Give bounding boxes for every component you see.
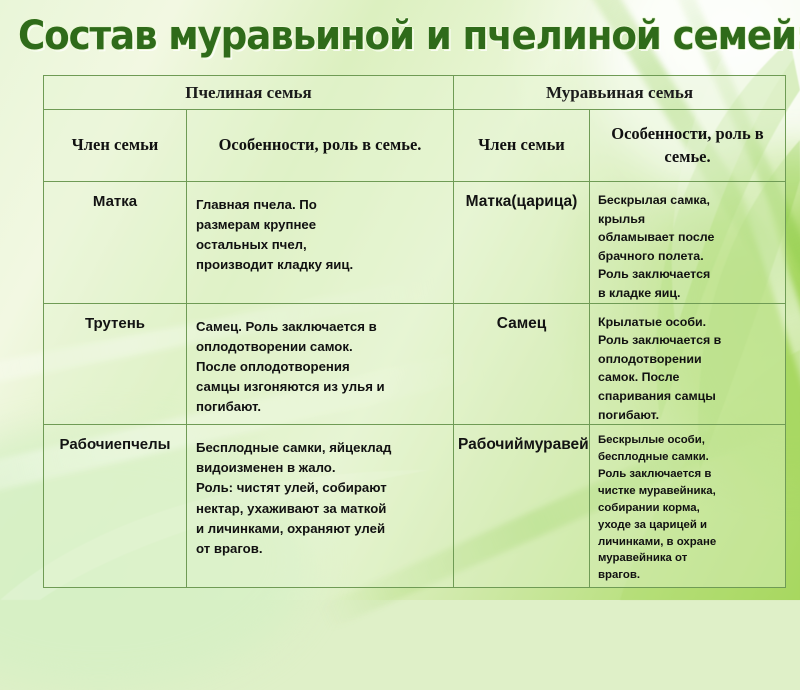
text-line: производит кладку яиц. <box>196 255 445 275</box>
section-header-ant: Муравьиная семья <box>454 76 786 110</box>
cell-ant-member: Рабочиймуравей <box>454 425 590 588</box>
text-line: видоизменен в жало. <box>196 458 445 478</box>
text-line: уходе за царицей и <box>598 517 779 534</box>
text-line: погибают. <box>598 406 779 425</box>
text-line: Бескрылая самка, <box>598 191 779 210</box>
cell-bee-member: Рабочиепчелы <box>44 425 187 588</box>
column-header-bee-member: Член семьи <box>44 110 187 182</box>
cell-bee-role: Главная пчела. Поразмерам крупнееостальн… <box>187 182 454 304</box>
table-row: Рабочиепчелы Бесплодные самки, яйцекладв… <box>44 425 786 588</box>
text-line: Рабочий <box>458 436 523 453</box>
text-line: пчелы <box>122 436 170 453</box>
table-row: Матка Главная пчела. Поразмерам крупнеео… <box>44 182 786 304</box>
text-line: (царица) <box>511 193 577 210</box>
text-line: Бескрылые особи, <box>598 432 779 449</box>
text-line: от врагов. <box>196 539 445 559</box>
table-section-header-row: Пчелиная семья Муравьиная семья <box>44 76 786 110</box>
cell-ant-role: Бескрылая самка,крыльяобламывает послебр… <box>590 182 786 304</box>
cell-ant-member: Самец <box>454 303 590 425</box>
text-line: Крылатые особи. <box>598 313 779 332</box>
text-line: врагов. <box>598 567 779 584</box>
text-line: оплодотворении самок. <box>196 337 445 357</box>
text-line: чистке муравейника, <box>598 483 779 500</box>
text-line: собирании корма, <box>598 500 779 517</box>
text-line: Рабочие <box>60 436 122 453</box>
text-line: бесплодные самки. <box>598 449 779 466</box>
cell-bee-role: Бесплодные самки, яйцекладвидоизменен в … <box>187 425 454 588</box>
cell-ant-role: Бескрылые особи,бесплодные самки.Роль за… <box>590 425 786 588</box>
text-line: в кладке яиц. <box>598 284 779 303</box>
text-line: самцы изгоняются из улья и <box>196 377 445 397</box>
column-header-ant-role: Особенности, роль в семье. <box>590 110 786 182</box>
text-line: Роль: чистят улей, собирают <box>196 478 445 498</box>
text-line: Главная пчела. По <box>196 195 445 215</box>
cell-bee-role: Самец. Роль заключается воплодотворении … <box>187 303 454 425</box>
cell-bee-member: Матка <box>44 182 187 304</box>
text-line: Бесплодные самки, яйцеклад <box>196 438 445 458</box>
text-line: и личинками, охраняют улей <box>196 519 445 539</box>
page-title: Состав муравьиной и пчелиной семей: <box>18 10 729 62</box>
table-row: Трутень Самец. Роль заключается воплодот… <box>44 303 786 425</box>
text-line: личинками, в охране <box>598 534 779 551</box>
text-line: нектар, ухаживают за маткой <box>196 499 445 519</box>
text-line: Роль заключается <box>598 265 779 284</box>
text-line: размерам крупнее <box>196 215 445 235</box>
text-line: Самец. Роль заключается в <box>196 317 445 337</box>
text-line: брачного полета. <box>598 247 779 266</box>
text-line: погибают. <box>196 397 445 417</box>
cell-ant-role: Крылатые особи.Роль заключается воплодот… <box>590 303 786 425</box>
text-line: муравейника от <box>598 550 779 567</box>
text-line: Роль заключается в <box>598 466 779 483</box>
text-line: обламывает после <box>598 228 779 247</box>
section-header-bee: Пчелиная семья <box>44 76 454 110</box>
text-line: муравей <box>523 436 588 453</box>
table-column-header-row: Член семьи Особенности, роль в семье. Чл… <box>44 110 786 182</box>
text-line: После оплодотворения <box>196 357 445 377</box>
text-line: Самец <box>497 315 547 332</box>
cell-ant-member: Матка(царица) <box>454 182 590 304</box>
text-line: спаривания самцы <box>598 387 779 406</box>
cell-bee-member: Трутень <box>44 303 187 425</box>
text-line: остальных пчел, <box>196 235 445 255</box>
text-line: оплодотворении <box>598 350 779 369</box>
text-line: крылья <box>598 210 779 229</box>
column-header-bee-role: Особенности, роль в семье. <box>187 110 454 182</box>
composition-table: Пчелиная семья Муравьиная семья Член сем… <box>43 75 786 588</box>
text-line: самок. После <box>598 368 779 387</box>
column-header-ant-member: Член семьи <box>454 110 590 182</box>
composition-table-wrapper: Пчелиная семья Муравьиная семья Член сем… <box>43 75 785 578</box>
text-line: Матка <box>466 193 512 210</box>
text-line: Роль заключается в <box>598 331 779 350</box>
